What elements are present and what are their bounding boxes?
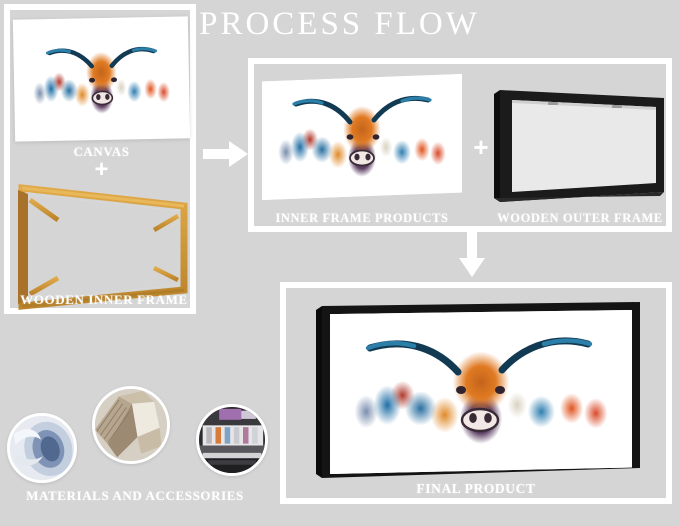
canvas-artwork-image	[19, 22, 184, 135]
wooden-outer-frame-image	[492, 84, 668, 208]
caption-final-product: FINAL PRODUCT	[300, 481, 652, 497]
caption-materials-and-accessories: MATERIALS AND ACCESSORIES	[4, 488, 266, 504]
canvas-artwork-card	[13, 16, 190, 141]
caption-wooden-outer-frame: WOODEN OUTER FRAME	[484, 211, 676, 226]
cow-horns-icon-2	[262, 74, 462, 200]
inner-frame-artwork-image	[262, 74, 462, 200]
final-product-image	[314, 296, 644, 486]
final-artwork-image	[330, 310, 632, 474]
cow-horns-icon	[19, 22, 184, 135]
black-frame-icon	[492, 84, 668, 208]
plus-inner-outer-frame: +	[470, 134, 492, 160]
caption-wooden-inner-frame: WOODEN INNER FRAME	[8, 292, 200, 308]
material-circle-printer	[196, 404, 268, 476]
arrow-down-icon	[457, 232, 487, 278]
arrow-inner-frame-to-final-product	[457, 232, 487, 278]
inner-frame-product-image	[262, 70, 462, 205]
material-circle-cardboard-packaging	[92, 386, 170, 464]
large-format-printer-icon	[199, 407, 265, 473]
cow-horns-icon-3	[330, 310, 632, 474]
process-flow-infographic: PROCESS FLOW CANVAS +	[0, 0, 679, 526]
arrow-canvas-to-inner-frame	[203, 139, 249, 169]
cardboard-packaging-icon	[95, 389, 167, 461]
caption-inner-frame-products: INNER FRAME PRODUCTS	[256, 211, 468, 226]
rolled-canvas-icon	[10, 416, 74, 480]
material-circle-rolled-canvas	[7, 413, 77, 483]
arrow-right-icon	[203, 139, 249, 169]
